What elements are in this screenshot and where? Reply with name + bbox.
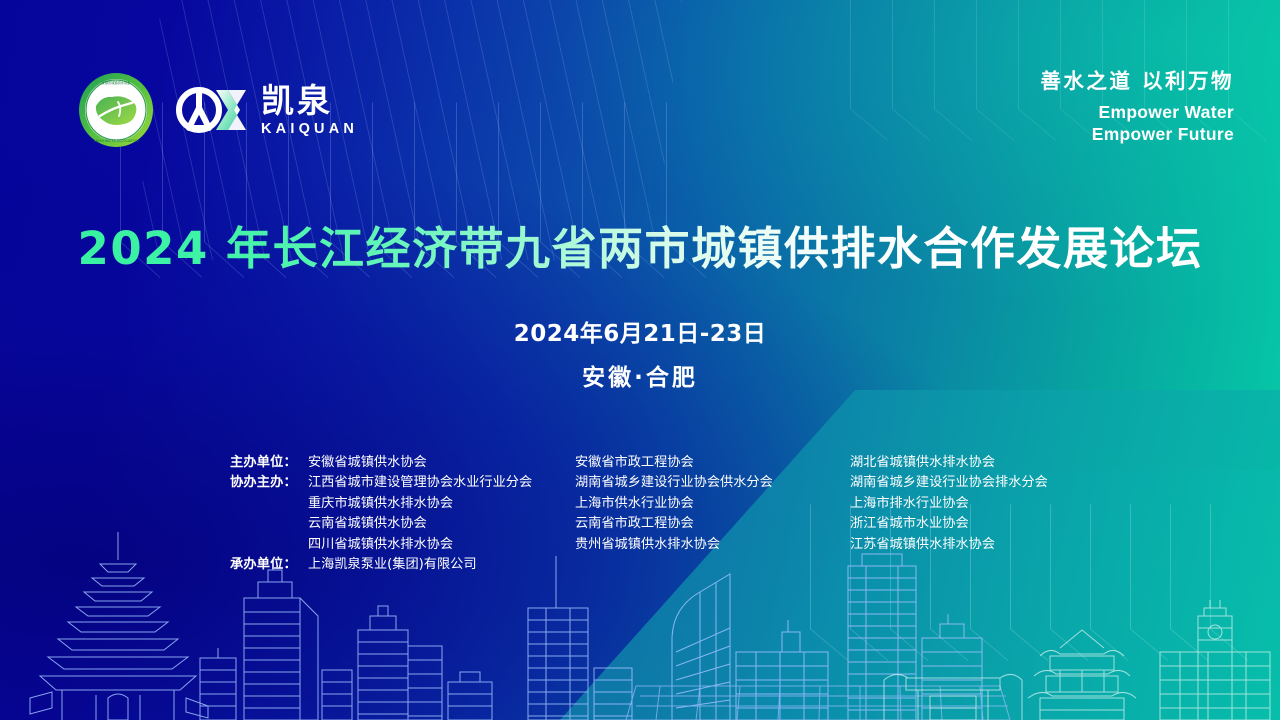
kaiquan-name-cn: 凯泉 xyxy=(261,84,358,117)
event-date: 2024年6月21日-23日 xyxy=(0,314,1280,348)
co-host-row: 四川省城镇供水排水协会 xyxy=(230,532,575,553)
co-host-value-3: 云南省城镇供水协会 xyxy=(308,512,427,531)
kaiquan-name-en: KAIQUAN xyxy=(261,122,358,137)
host-value: 安徽省城镇供水协会 xyxy=(308,451,427,470)
host-row: 主办单位： 安徽省城镇供水协会 xyxy=(230,450,575,471)
co-host-label: 协办主办： xyxy=(230,471,308,490)
list-item: 湖北省城镇供水排水协会 xyxy=(850,450,1050,471)
organizer-row: 承办单位： 上海凯泉泵业(集团)有限公司 xyxy=(230,553,575,574)
slogan-en-line1: Empower Water xyxy=(1040,101,1234,123)
list-item: 湖南省城乡建设行业协会供水分会 xyxy=(575,471,850,492)
organizers-block: 主办单位： 安徽省城镇供水协会 协办主办： 江西省城市建设管理协会水业行业分会 … xyxy=(230,450,1050,573)
co-host-value-2: 重庆市城镇供水排水协会 xyxy=(308,492,453,511)
kaiquan-mark-icon xyxy=(176,84,250,136)
kaiquan-logo: 凯泉 KAIQUAN xyxy=(176,84,358,137)
co-host-row: 协办主办： 江西省城市建设管理协会水业行业分会 xyxy=(230,471,575,492)
list-item: 上海市排水行业协会 xyxy=(850,491,1050,512)
association-logo-icon: 安徽省城镇供水协会 ANHUI WATER ASSOCIATION xyxy=(78,72,154,148)
co-host-value-1: 江西省城市建设管理协会水业行业分会 xyxy=(308,471,532,490)
organizers-column-2: 安徽省市政工程协会 湖南省城乡建设行业协会供水分会 上海市供水行业协会 云南省市… xyxy=(575,450,850,573)
slogan-cn: 善水之道 以利万物 xyxy=(1040,64,1234,94)
co-host-value-4: 四川省城镇供水排水协会 xyxy=(308,533,453,552)
co-host-row: 云南省城镇供水协会 xyxy=(230,512,575,533)
svg-text:安徽省城镇供水协会: 安徽省城镇供水协会 xyxy=(102,80,131,85)
logo-group: 安徽省城镇供水协会 ANHUI WATER ASSOCIATION xyxy=(78,72,358,148)
list-item: 江苏省城镇供水排水协会 xyxy=(850,532,1050,553)
banner-stage: 安徽省城镇供水协会 ANHUI WATER ASSOCIATION xyxy=(0,0,1280,720)
list-item: 上海市供水行业协会 xyxy=(575,491,850,512)
organizer-value: 上海凯泉泵业(集团)有限公司 xyxy=(308,553,477,572)
list-item: 贵州省城镇供水排水协会 xyxy=(575,532,850,553)
list-item: 浙江省城市水业协会 xyxy=(850,512,1050,533)
organizers-column-1: 主办单位： 安徽省城镇供水协会 协办主办： 江西省城市建设管理协会水业行业分会 … xyxy=(230,450,575,573)
page-title: 2024 年长江经济带九省两市城镇供排水合作发展论坛 xyxy=(0,212,1280,277)
event-location: 安徽·合肥 xyxy=(0,358,1280,392)
slogan-en-line2: Empower Future xyxy=(1040,123,1234,145)
host-label: 主办单位： xyxy=(230,451,308,470)
list-item: 安徽省市政工程协会 xyxy=(575,450,850,471)
svg-text:ANHUI WATER ASSOCIATION: ANHUI WATER ASSOCIATION xyxy=(94,139,140,143)
list-item: 云南省市政工程协会 xyxy=(575,512,850,533)
banner-header: 安徽省城镇供水协会 ANHUI WATER ASSOCIATION xyxy=(0,0,1280,170)
event-info: 2024年6月21日-23日 安徽·合肥 xyxy=(0,314,1280,392)
slogan-block: 善水之道 以利万物 Empower Water Empower Future xyxy=(1040,64,1234,146)
organizers-column-3: 湖北省城镇供水排水协会 湖南省城乡建设行业协会排水分会 上海市排水行业协会 浙江… xyxy=(850,450,1050,573)
co-host-row: 重庆市城镇供水排水协会 xyxy=(230,491,575,512)
list-item: 湖南省城乡建设行业协会排水分会 xyxy=(850,471,1050,492)
organizer-label: 承办单位： xyxy=(230,553,308,572)
